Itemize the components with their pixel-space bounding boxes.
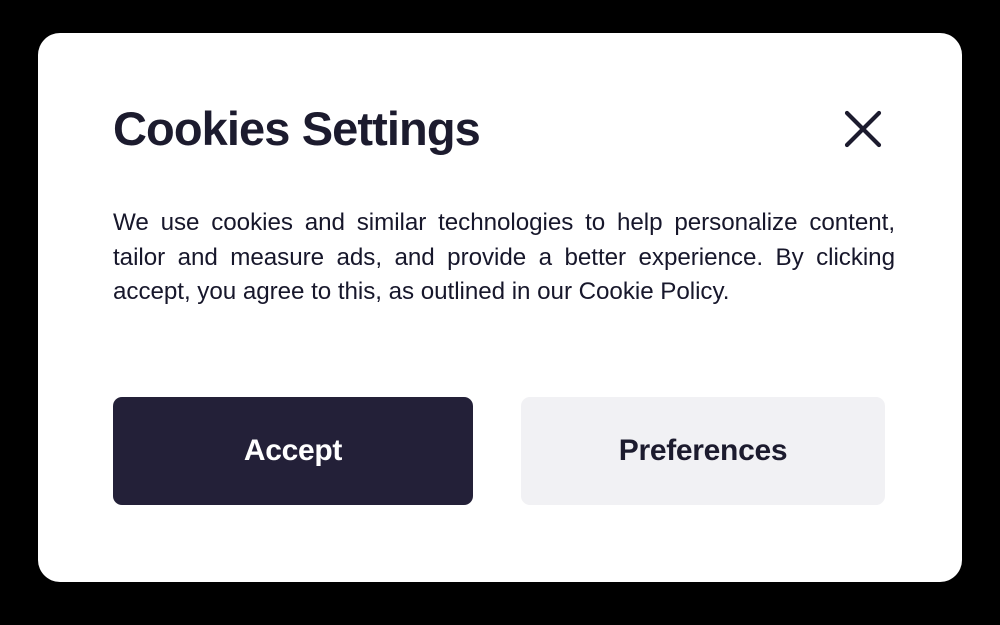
dialog-title: Cookies Settings xyxy=(113,105,480,152)
page-background: Cookies Settings We use cookies and simi… xyxy=(0,0,1000,625)
close-button[interactable] xyxy=(835,101,891,157)
preferences-button[interactable]: Preferences xyxy=(521,397,885,505)
close-x-icon xyxy=(844,110,882,148)
dialog-header: Cookies Settings xyxy=(38,33,962,183)
accept-button[interactable]: Accept xyxy=(113,397,473,505)
dialog-description: We use cookies and similar technologies … xyxy=(113,206,895,310)
cookies-settings-dialog: Cookies Settings We use cookies and simi… xyxy=(38,33,962,582)
dialog-actions: Accept Preferences xyxy=(113,397,885,505)
